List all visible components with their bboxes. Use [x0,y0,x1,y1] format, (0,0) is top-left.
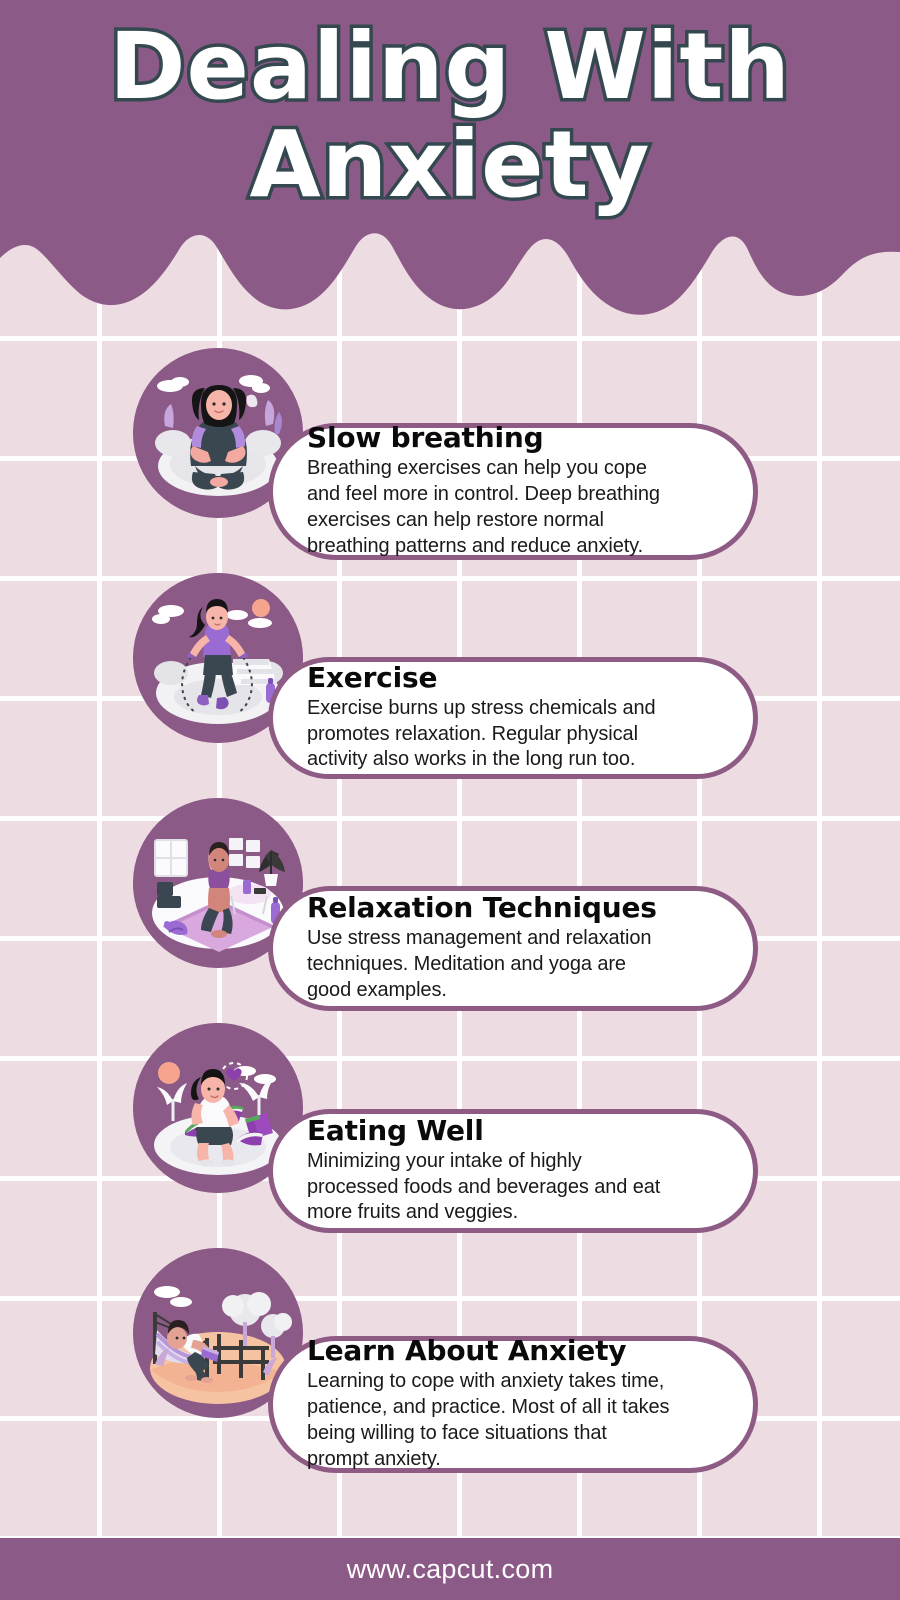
tip-card: Exercise Exercise burns up stress chemic… [268,657,758,779]
footer-url: www.capcut.com [347,1554,554,1585]
tip-row-1: Slow breathing Breathing exercises can h… [0,348,900,573]
tip-title: Slow breathing [307,421,719,454]
tip-row-3: Relaxation Techniques Use stress managem… [0,798,900,1023]
footer-bar: www.capcut.com [0,1538,900,1600]
tip-card: Eating Well Minimizing your intake of hi… [268,1109,758,1233]
tip-body: Minimizing your intake of highly process… [307,1149,719,1226]
tip-title: Learn About Anxiety [307,1334,719,1367]
page-title-line-1: Dealing With [0,18,900,116]
tip-title: Relaxation Techniques [307,891,719,924]
tip-body: Exercise burns up stress chemicals and p… [307,696,719,773]
tip-row-4: Eating Well Minimizing your intake of hi… [0,1023,900,1248]
page-title-line-2: Anxiety [0,116,900,214]
tip-body: Use stress management and relaxation tec… [307,926,719,1003]
tip-body: Breathing exercises can help you cope an… [307,456,719,559]
tip-row-5: Learn About Anxiety Learning to cope wit… [0,1248,900,1478]
tip-card: Slow breathing Breathing exercises can h… [268,423,758,560]
page-title: Dealing With Anxiety [0,18,900,215]
tip-title: Eating Well [307,1114,719,1147]
infographic-poster: Dealing With Anxiety [0,0,900,1600]
tip-row-2: Exercise Exercise burns up stress chemic… [0,573,900,798]
tip-title: Exercise [307,661,719,694]
header-banner: Dealing With Anxiety [0,0,900,330]
tip-card: Learn About Anxiety Learning to cope wit… [268,1336,758,1473]
tip-body: Learning to cope with anxiety takes time… [307,1369,719,1472]
tip-card: Relaxation Techniques Use stress managem… [268,886,758,1011]
